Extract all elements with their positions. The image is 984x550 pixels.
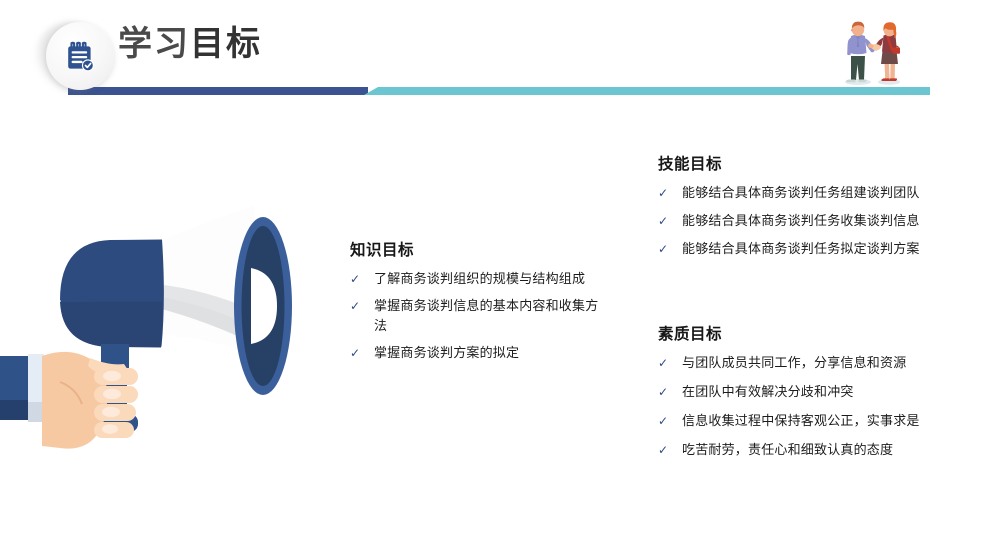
section-knowledge-list: ✓ 了解商务谈判组织的规模与结构组成 ✓ 掌握商务谈判信息的基本内容和收集方法 … bbox=[350, 269, 600, 364]
list-item: ✓ 信息收集过程中保持客观公正，实事求是 bbox=[658, 411, 923, 431]
list-item-text: 吃苦耐劳，责任心和细致认真的态度 bbox=[682, 442, 893, 457]
list-item-text: 能够结合具体商务谈判任务拟定谈判方案 bbox=[682, 241, 920, 256]
check-icon: ✓ bbox=[658, 441, 668, 460]
page-title-char-2: 习 bbox=[154, 25, 190, 63]
notepad-check-icon bbox=[63, 38, 97, 74]
list-item: ✓ 能够结合具体商务谈判任务拟定谈判方案 bbox=[658, 239, 923, 259]
page-title-char-4: 标 bbox=[226, 25, 262, 63]
list-item-text: 了解商务谈判组织的规模与结构组成 bbox=[374, 271, 585, 286]
section-quality-title: 素质目标 bbox=[658, 322, 923, 344]
list-item: ✓ 能够结合具体商务谈判任务组建谈判团队 bbox=[658, 183, 923, 203]
section-skill: 技能目标 ✓ 能够结合具体商务谈判任务组建谈判团队 ✓ 能够结合具体商务谈判任务… bbox=[658, 152, 923, 267]
list-item: ✓ 吃苦耐劳，责任心和细致认真的态度 bbox=[658, 440, 923, 460]
check-icon: ✓ bbox=[658, 354, 668, 373]
check-icon: ✓ bbox=[350, 297, 360, 316]
list-item-text: 在团队中有效解决分歧和冲突 bbox=[682, 384, 854, 399]
section-knowledge: 知识目标 ✓ 了解商务谈判组织的规模与结构组成 ✓ 掌握商务谈判信息的基本内容和… bbox=[350, 238, 600, 371]
page-title: 学习目标 bbox=[118, 27, 262, 61]
check-icon: ✓ bbox=[658, 412, 668, 431]
check-icon: ✓ bbox=[350, 270, 360, 289]
section-quality: 素质目标 ✓ 与团队成员共同工作，分享信息和资源 ✓ 在团队中有效解决分歧和冲突… bbox=[658, 322, 923, 470]
section-quality-list: ✓ 与团队成员共同工作，分享信息和资源 ✓ 在团队中有效解决分歧和冲突 ✓ 信息… bbox=[658, 353, 923, 461]
check-icon: ✓ bbox=[658, 184, 668, 203]
check-icon: ✓ bbox=[658, 383, 668, 402]
list-item: ✓ 在团队中有效解决分歧和冲突 bbox=[658, 382, 923, 402]
check-icon: ✓ bbox=[350, 344, 360, 363]
header-badge bbox=[46, 22, 114, 90]
header-divider-teal bbox=[364, 87, 930, 95]
list-item: ✓ 掌握商务谈判方案的拟定 bbox=[350, 343, 600, 363]
list-item: ✓ 与团队成员共同工作，分享信息和资源 bbox=[658, 353, 923, 373]
section-skill-title: 技能目标 bbox=[658, 152, 923, 174]
list-item-text: 能够结合具体商务谈判任务收集谈判信息 bbox=[682, 213, 920, 228]
check-icon: ✓ bbox=[658, 212, 668, 231]
list-item: ✓ 能够结合具体商务谈判任务收集谈判信息 bbox=[658, 211, 923, 231]
header-divider-blue bbox=[68, 87, 368, 95]
list-item-text: 信息收集过程中保持客观公正，实事求是 bbox=[682, 413, 920, 428]
page-title-char-3: 目 bbox=[190, 25, 226, 63]
list-item-text: 掌握商务谈判信息的基本内容和收集方法 bbox=[374, 298, 598, 333]
megaphone-in-hand-icon bbox=[0, 196, 328, 456]
page-title-char-1: 学 bbox=[118, 25, 154, 63]
list-item-text: 能够结合具体商务谈判任务组建谈判团队 bbox=[682, 185, 920, 200]
section-skill-list: ✓ 能够结合具体商务谈判任务组建谈判团队 ✓ 能够结合具体商务谈判任务收集谈判信… bbox=[658, 183, 923, 259]
section-knowledge-title: 知识目标 bbox=[350, 238, 600, 260]
list-item: ✓ 掌握商务谈判信息的基本内容和收集方法 bbox=[350, 296, 600, 336]
slide-root: 学习目标 bbox=[0, 0, 984, 550]
list-item-text: 与团队成员共同工作，分享信息和资源 bbox=[682, 355, 906, 370]
list-item-text: 掌握商务谈判方案的拟定 bbox=[374, 345, 519, 360]
list-item: ✓ 了解商务谈判组织的规模与结构组成 bbox=[350, 269, 600, 289]
handshake-people-icon bbox=[832, 18, 912, 88]
check-icon: ✓ bbox=[658, 240, 668, 259]
